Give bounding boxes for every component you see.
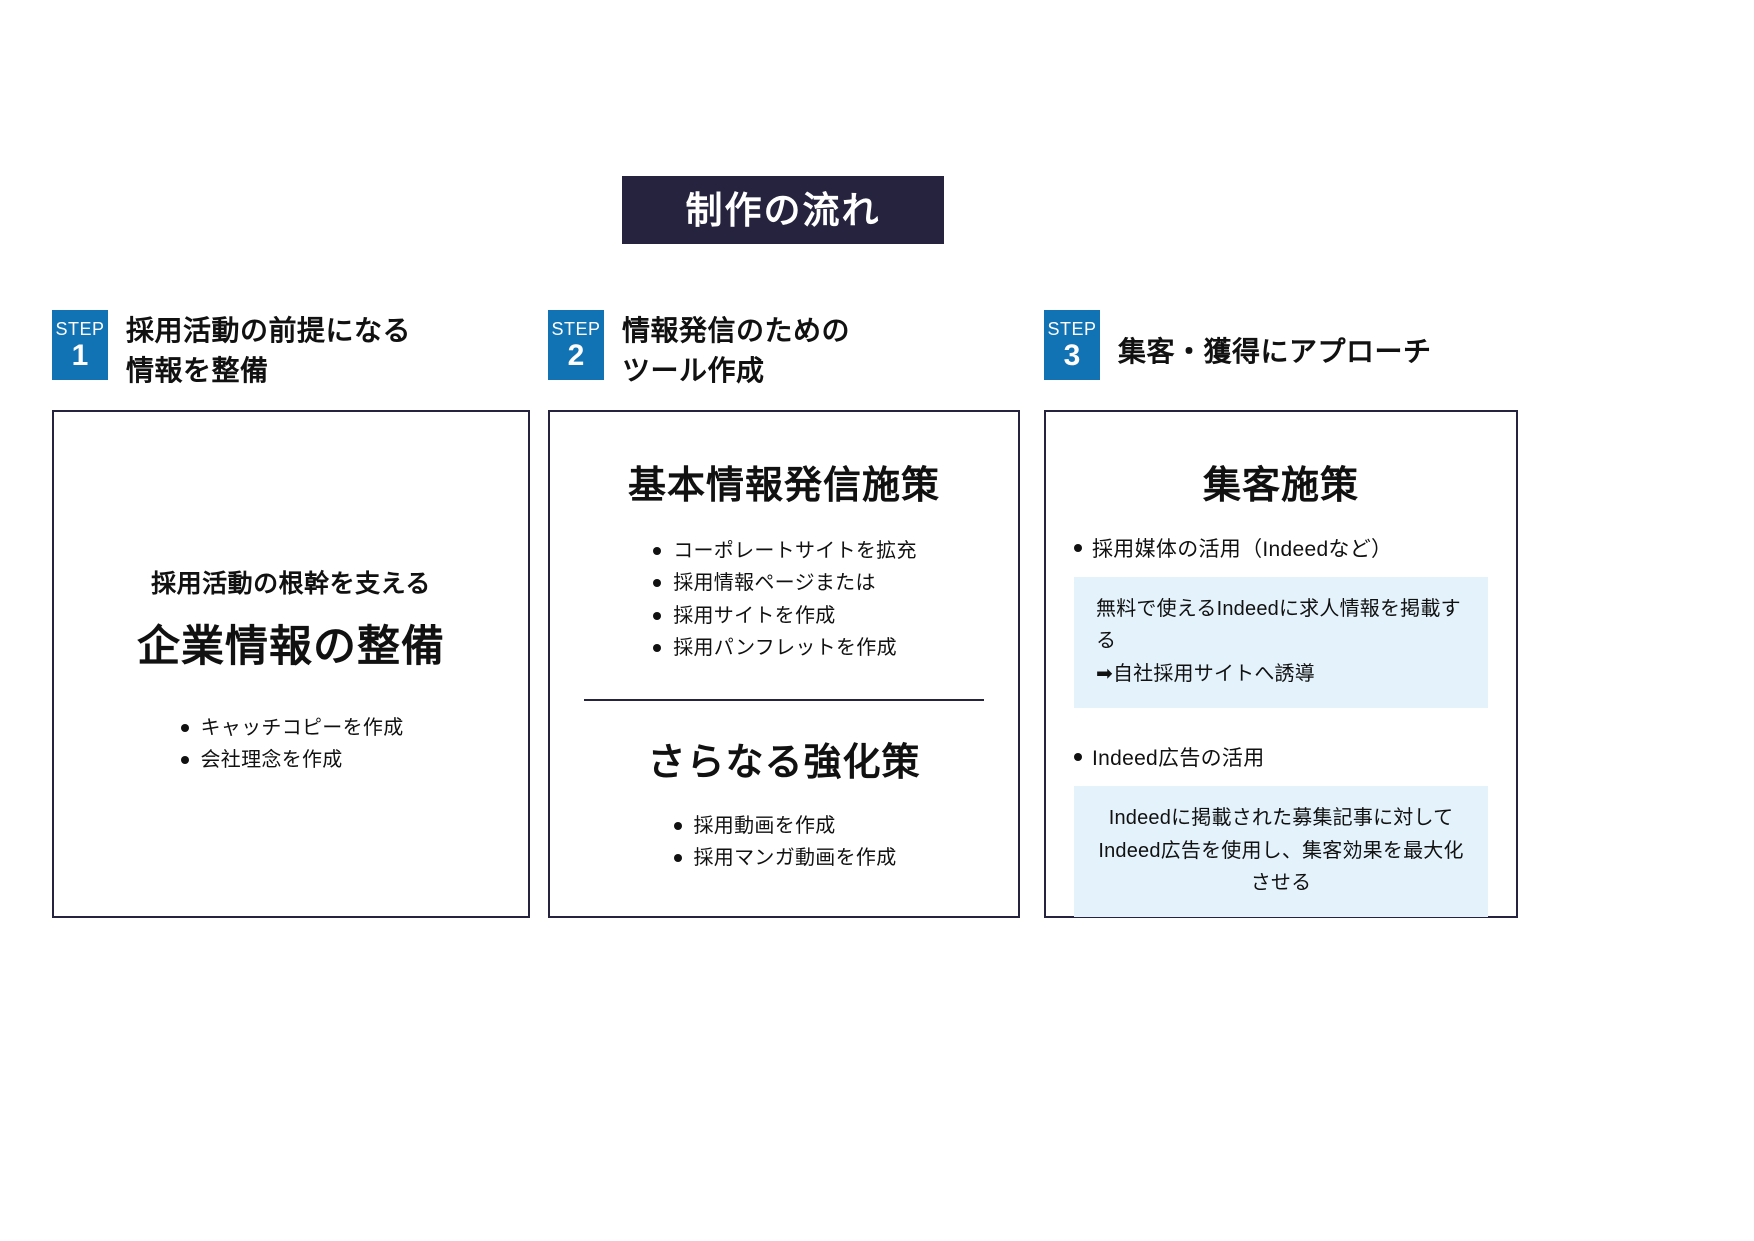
step-badge-2: STEP 2 xyxy=(548,310,604,380)
step-column-3: STEP 3 集客・獲得にアプローチ 集客施策 採用媒体の活用（Indeedなど… xyxy=(1044,310,1518,918)
step-badge-number: 2 xyxy=(568,341,585,371)
step-header-1: STEP 1 採用活動の前提になる 情報を整備 xyxy=(52,310,530,410)
card-2-section-2-heading: さらなる強化策 xyxy=(550,731,1018,786)
list-item: 採用サイトを作成 xyxy=(651,600,917,632)
list-item: 採用動画を作成 xyxy=(672,810,897,842)
list-item: 採用情報ページまたは xyxy=(651,567,917,599)
card-2-section-basic: 基本情報発信施策 コーポレートサイトを拡充 採用情報ページまたは 採用サイトを作… xyxy=(550,412,1018,665)
highlight-line: ➡自社採用サイトへ誘導 xyxy=(1096,658,1466,690)
card-3-group-1: 採用媒体の活用（Indeedなど） 無料で使えるIndeedに求人情報を掲載する… xyxy=(1074,533,1488,708)
card-1-bullet-list: キャッチコピーを作成 会社理念を作成 xyxy=(179,712,404,777)
step-column-2: STEP 2 情報発信のための ツール作成 基本情報発信施策 コーポレートサイト… xyxy=(548,310,1020,918)
list-item: 採用パンフレットを作成 xyxy=(651,632,917,664)
list-item: キャッチコピーを作成 xyxy=(179,712,404,744)
card-2-section-enhance: さらなる強化策 採用動画を作成 採用マンガ動画を作成 xyxy=(550,701,1018,875)
card-1-headline: 企業情報の整備 xyxy=(54,612,528,674)
card-1-subtitle: 採用活動の根幹を支える xyxy=(54,564,528,600)
step-card-3: 集客施策 採用媒体の活用（Indeedなど） 無料で使えるIndeedに求人情報… xyxy=(1044,410,1518,918)
step-title-1: 採用活動の前提になる 情報を整備 xyxy=(126,310,411,391)
step-card-2: 基本情報発信施策 コーポレートサイトを拡充 採用情報ページまたは 採用サイトを作… xyxy=(548,410,1020,918)
card-2-section-2-bullet-list: 採用動画を作成 採用マンガ動画を作成 xyxy=(672,810,897,875)
step-column-1: STEP 1 採用活動の前提になる 情報を整備 採用活動の根幹を支える 企業情報… xyxy=(52,310,530,918)
step-badge-1: STEP 1 xyxy=(52,310,108,380)
card-3-headline: 集客施策 xyxy=(1074,454,1488,509)
step-badge-word: STEP xyxy=(1047,320,1096,338)
page-title-banner: 制作の流れ xyxy=(622,176,944,244)
highlight-line: Indeedに掲載された募集記事に対して xyxy=(1096,802,1466,834)
list-item: 採用マンガ動画を作成 xyxy=(672,842,897,874)
card-3-group-2: Indeed広告の活用 Indeedに掲載された募集記事に対して Indeed広… xyxy=(1074,742,1488,917)
card-2-section-1-bullet-list: コーポレートサイトを拡充 採用情報ページまたは 採用サイトを作成 採用パンフレッ… xyxy=(651,535,917,665)
step-card-1-content: 採用活動の根幹を支える 企業情報の整備 キャッチコピーを作成 会社理念を作成 xyxy=(54,564,528,777)
step-title-2: 情報発信のための ツール作成 xyxy=(622,310,850,391)
card-3-group-1-highlight: 無料で使えるIndeedに求人情報を掲載する ➡自社採用サイトへ誘導 xyxy=(1074,577,1488,708)
steps-container: STEP 1 採用活動の前提になる 情報を整備 採用活動の根幹を支える 企業情報… xyxy=(0,310,1754,950)
highlight-line: Indeed広告を使用し、集客効果を最大化させる xyxy=(1096,835,1466,900)
card-3-group-1-lead: 採用媒体の活用（Indeedなど） xyxy=(1074,533,1488,563)
step-title-3: 集客・獲得にアプローチ xyxy=(1118,310,1432,372)
card-1-bullet-wrap: キャッチコピーを作成 会社理念を作成 xyxy=(179,712,404,777)
card-2-section-1-heading: 基本情報発信施策 xyxy=(550,454,1018,509)
step-header-3: STEP 3 集客・獲得にアプローチ xyxy=(1044,310,1518,410)
step-badge-word: STEP xyxy=(55,320,104,338)
step-card-1: 採用活動の根幹を支える 企業情報の整備 キャッチコピーを作成 会社理念を作成 xyxy=(52,410,530,918)
step-header-2: STEP 2 情報発信のための ツール作成 xyxy=(548,310,1020,410)
step-badge-3: STEP 3 xyxy=(1044,310,1100,380)
card-2-section-1-bullet-wrap: コーポレートサイトを拡充 採用情報ページまたは 採用サイトを作成 採用パンフレッ… xyxy=(651,535,917,665)
card-2-section-2-bullet-wrap: 採用動画を作成 採用マンガ動画を作成 xyxy=(672,810,897,875)
step-badge-number: 1 xyxy=(72,341,89,371)
list-item: 会社理念を作成 xyxy=(179,744,404,776)
page-title: 制作の流れ xyxy=(686,192,881,229)
highlight-line: 無料で使えるIndeedに求人情報を掲載する xyxy=(1096,593,1466,658)
step-badge-number: 3 xyxy=(1064,341,1081,371)
list-item: コーポレートサイトを拡充 xyxy=(651,535,917,567)
step-badge-word: STEP xyxy=(551,320,600,338)
step-card-3-content: 集客施策 採用媒体の活用（Indeedなど） 無料で使えるIndeedに求人情報… xyxy=(1046,412,1516,917)
card-3-group-2-highlight: Indeedに掲載された募集記事に対して Indeed広告を使用し、集客効果を最… xyxy=(1074,786,1488,917)
card-3-group-2-lead: Indeed広告の活用 xyxy=(1074,742,1488,772)
